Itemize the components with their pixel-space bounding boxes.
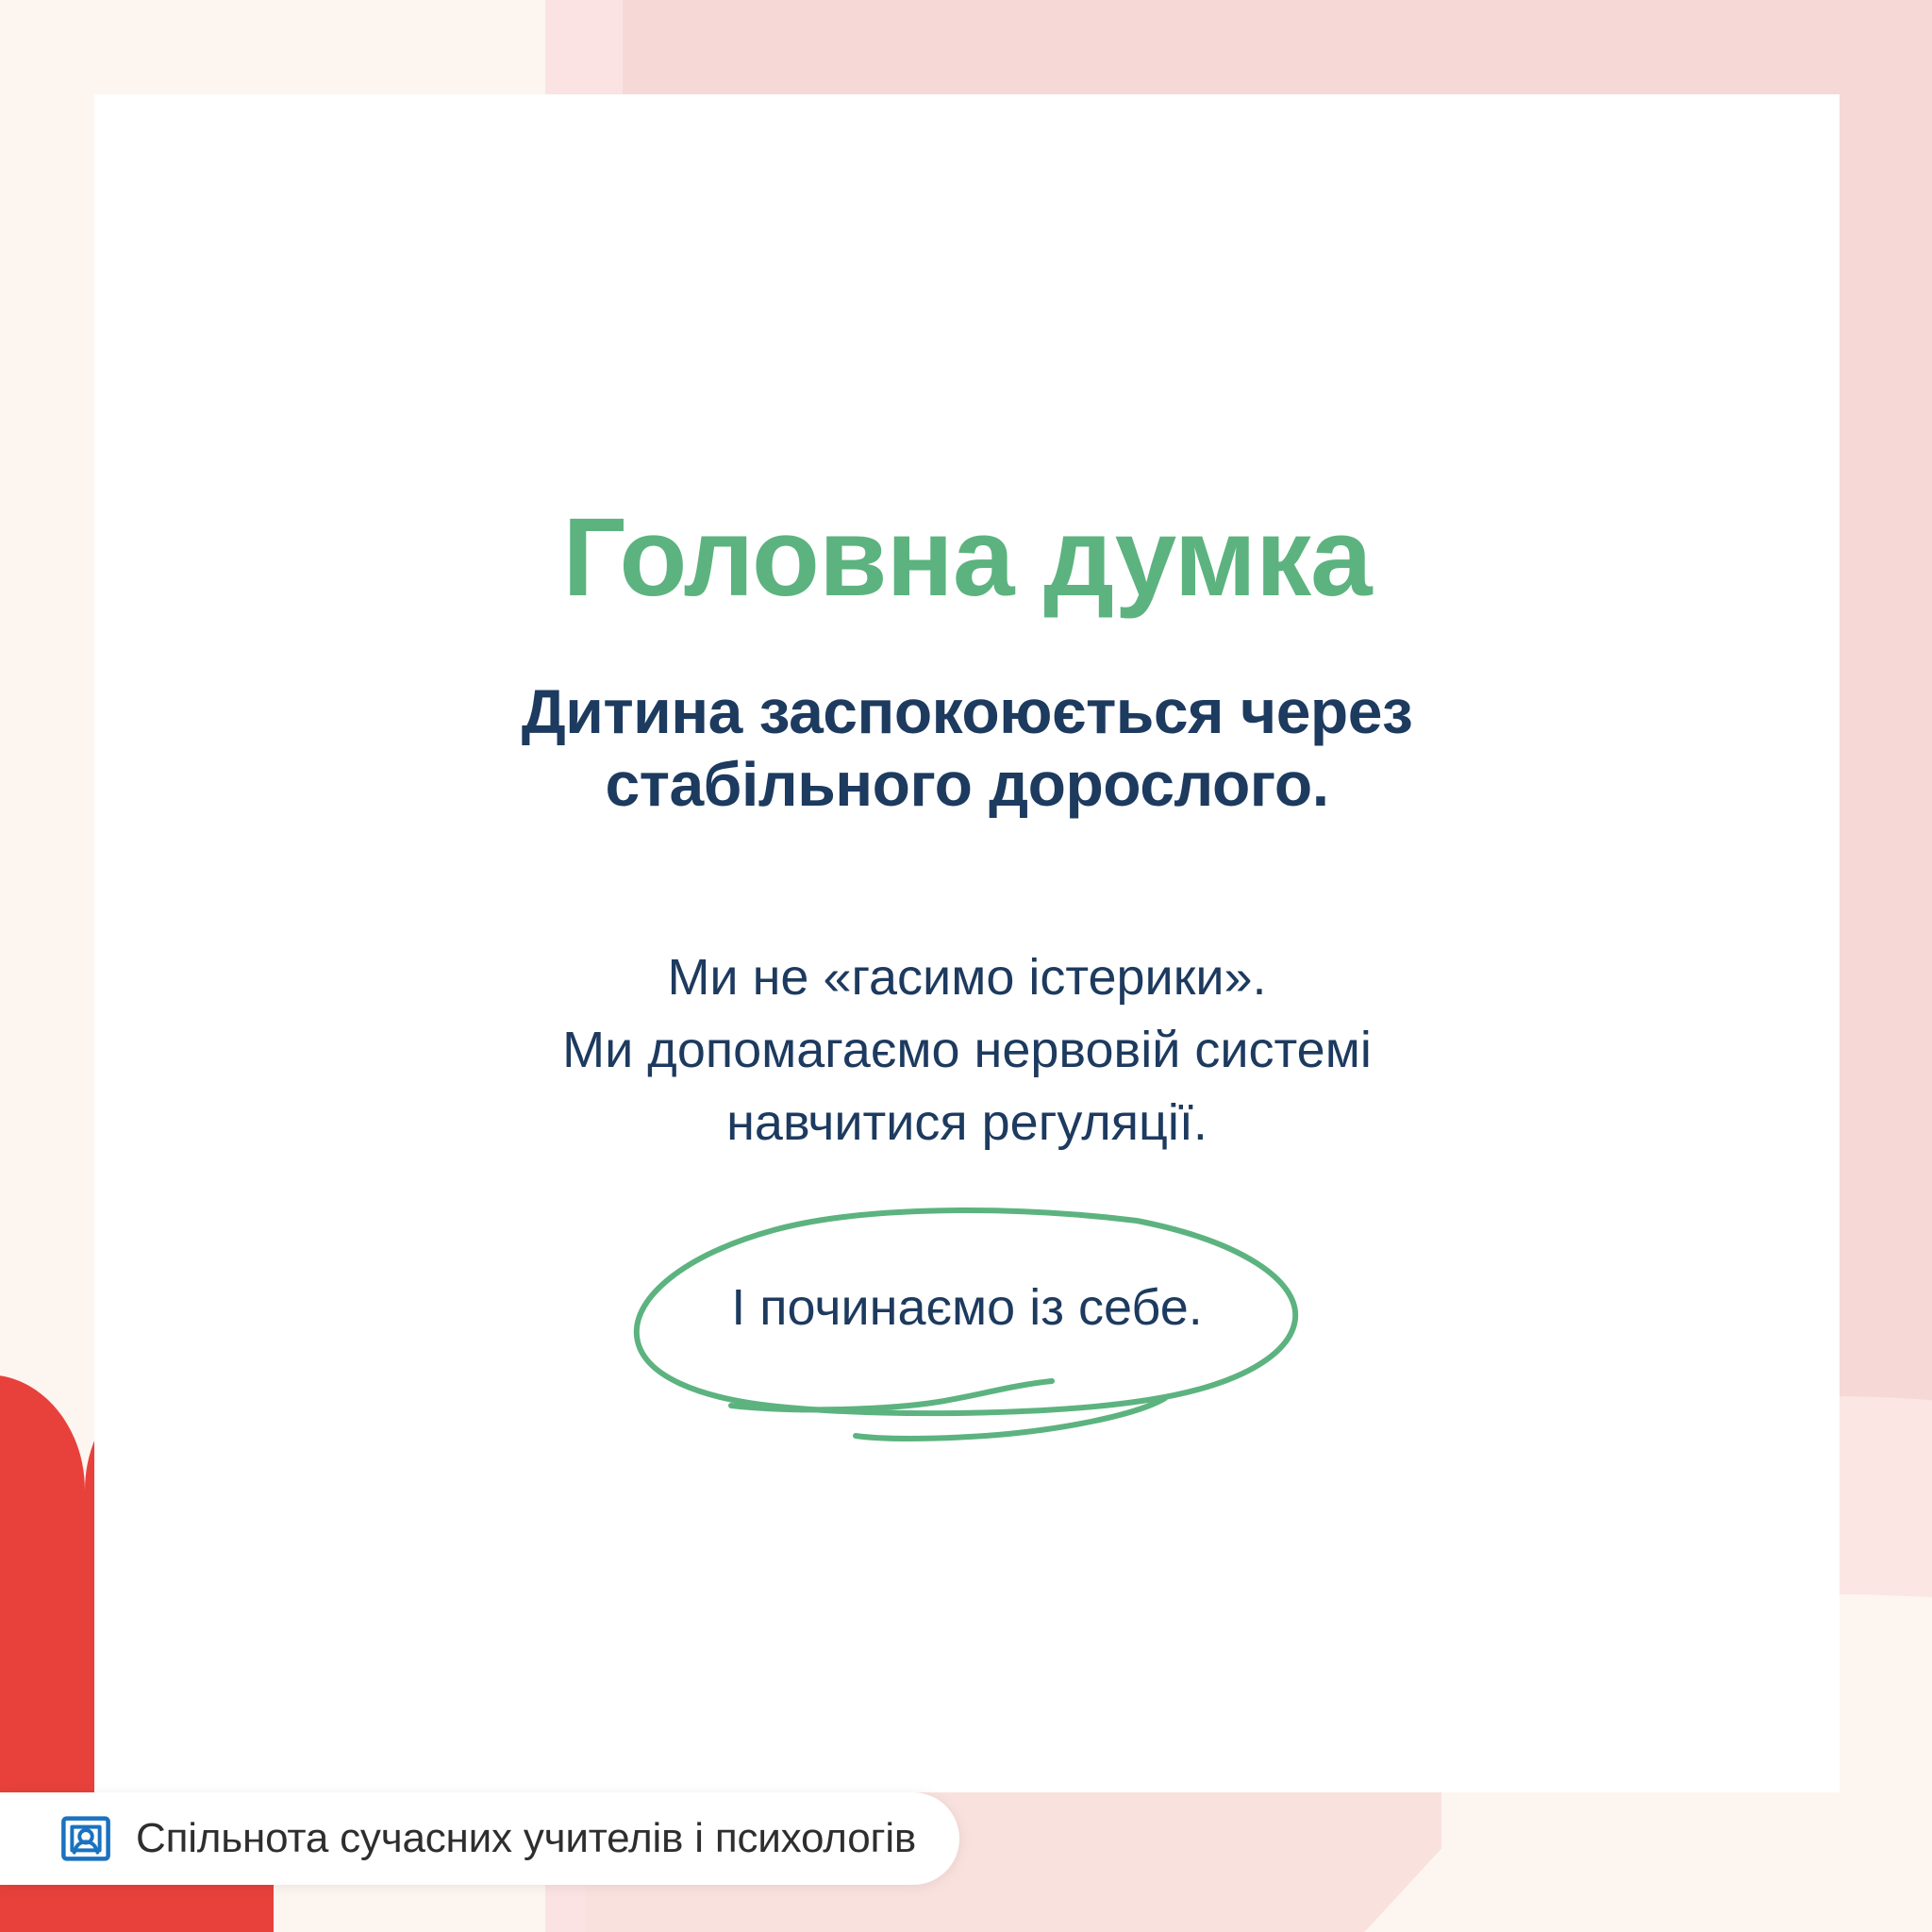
community-badge-label: Спільнота сучасних учителів і психологів [136,1815,916,1862]
body-paragraph: Ми не «гасимо істерики». Ми допомагаємо … [354,941,1580,1158]
page-title: Головна думка [170,500,1764,617]
highlight-text: І починаємо із себе. [608,1277,1325,1339]
page-subtitle: Дитина заспокоюється через стабільного д… [410,675,1524,821]
community-badge[interactable]: Спільнота сучасних учителів і психологів [0,1792,959,1885]
poster-canvas: Головна думка Дитина заспокоюється через… [0,0,1932,1932]
content-block: Головна думка Дитина заспокоюється через… [94,500,1840,1440]
content-card: Головна думка Дитина заспокоюється через… [94,94,1840,1792]
body-line-2: Ми допомагаємо нервовій системі [354,1014,1580,1087]
body-line-3: навчитися регуляції. [354,1087,1580,1159]
presentation-person-icon [60,1813,111,1864]
highlight-callout: І починаємо із себе. [608,1204,1325,1440]
body-line-1: Ми не «гасимо істерики». [354,941,1580,1014]
